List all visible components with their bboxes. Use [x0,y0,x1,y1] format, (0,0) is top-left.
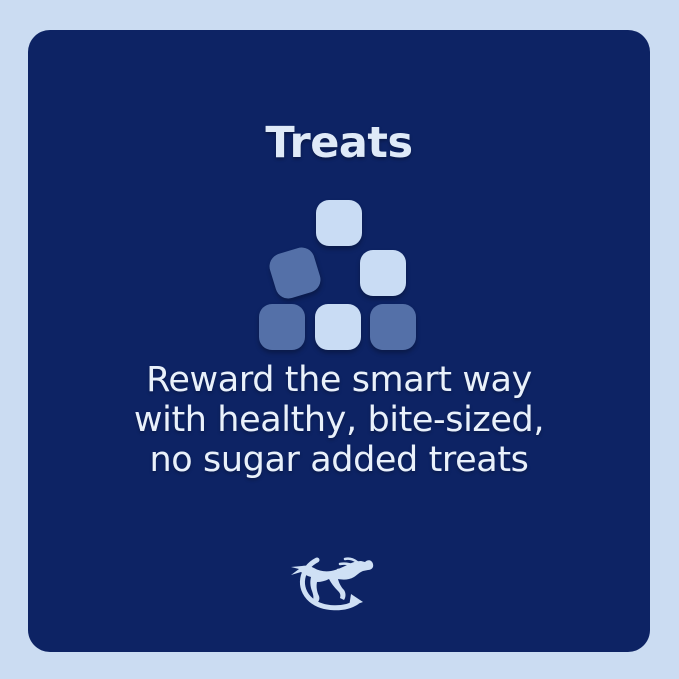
galloping-horse-logo [283,548,393,612]
body-line-3: no sugar added treats [28,440,650,480]
treats-card: Treats Reward the smart way with healthy… [28,30,650,652]
page-title: Treats [28,122,650,165]
treat-block-bottom-left [259,304,305,350]
body-line-2: with healthy, bite-sized, [28,400,650,440]
body-copy: Reward the smart way with healthy, bite-… [28,360,650,480]
treat-block-top-center [316,200,362,246]
image-canvas: Treats Reward the smart way with healthy… [0,0,679,679]
treat-block-middle-left [266,244,323,301]
treat-block-middle-right [360,250,406,296]
treat-block-bottom-center [315,304,361,350]
treat-block-bottom-right [370,304,416,350]
treats-stack-icon [256,198,422,354]
body-line-1: Reward the smart way [28,360,650,400]
